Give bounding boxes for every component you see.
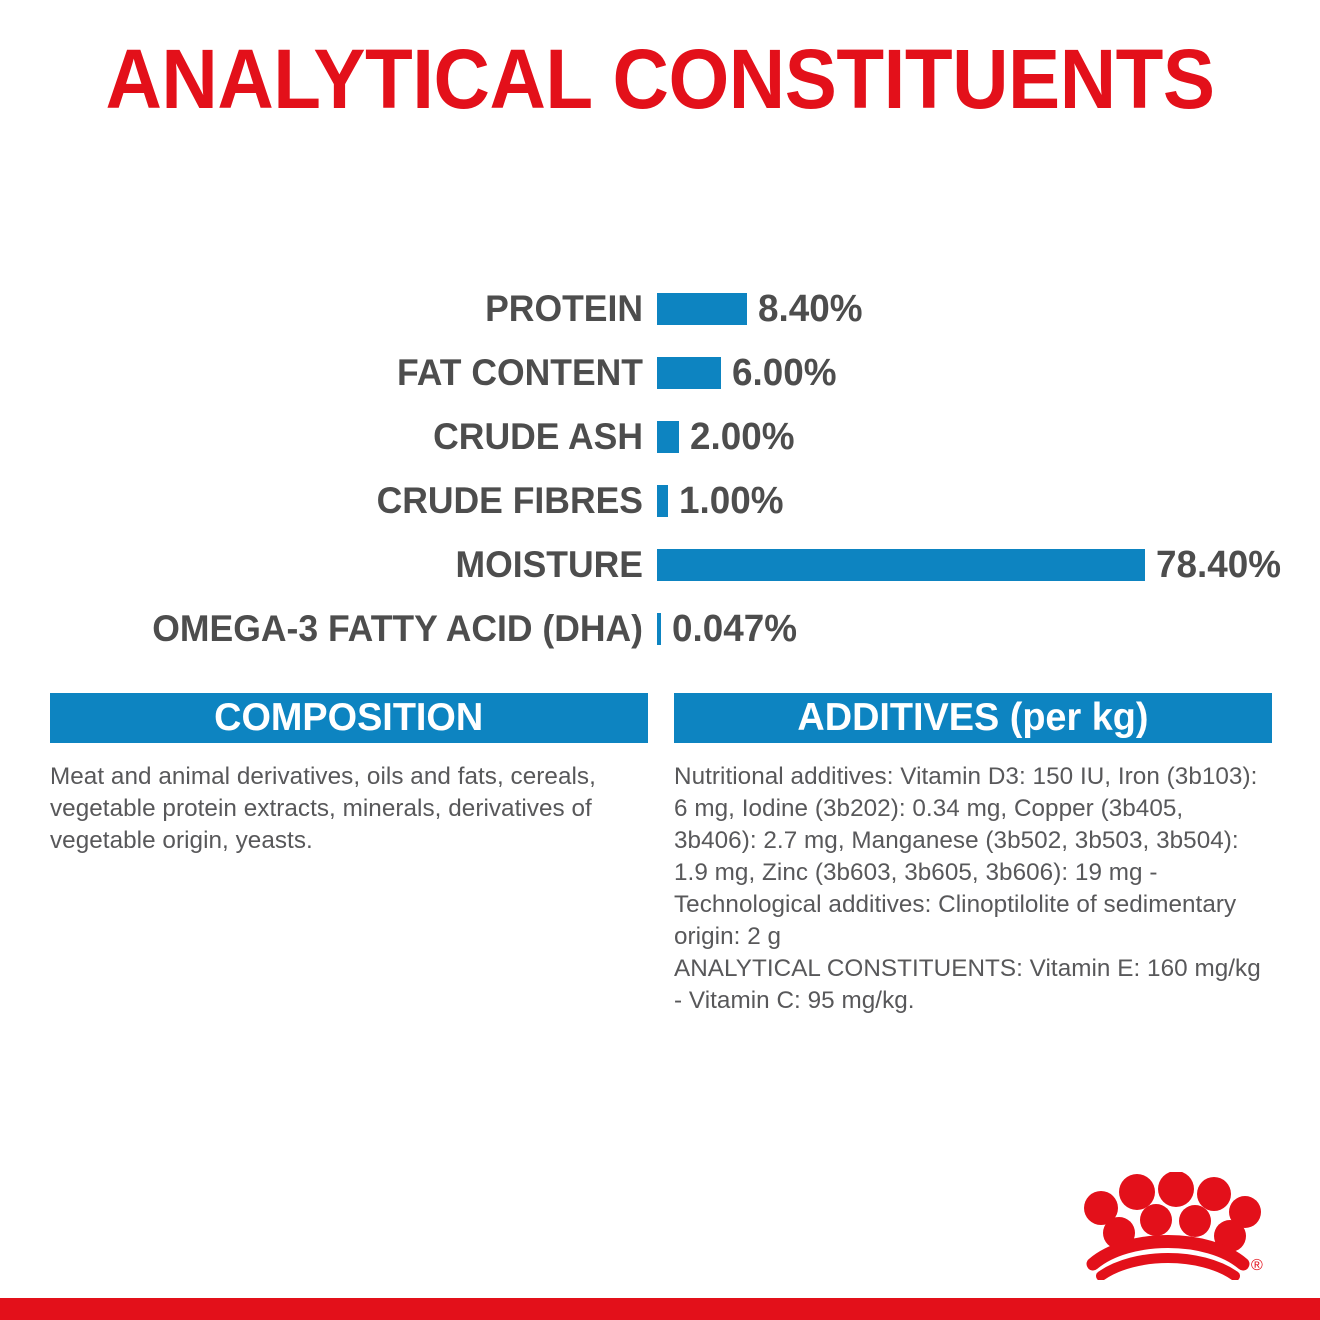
constituent-value: 8.40% [758,289,863,329]
registered-trademark-mark: ® [1251,1257,1263,1274]
constituent-bar [657,421,679,453]
constituent-value: 6.00% [732,353,837,393]
constituent-bar [657,293,747,325]
composition-body-text: Meat and animal derivatives, oils and fa… [50,761,642,857]
constituent-bar-wrap: 2.00% [657,405,798,469]
royal-canin-crown-logo: ® [1073,1172,1263,1280]
constituent-value: 1.00% [679,481,784,521]
additives-header: ADDITIVES (per kg) [674,693,1272,743]
constituent-value: 0.047% [672,609,797,649]
constituent-label: MOISTURE [26,545,643,585]
constituent-bar-wrap: 8.40% [657,277,866,341]
constituent-label: OMEGA-3 FATTY ACID (DHA) [26,609,643,649]
constituent-bar-wrap: 0.047% [657,597,801,661]
constituent-row: CRUDE FIBRES1.00% [0,469,1320,533]
constituent-value: 2.00% [690,417,795,457]
constituent-row: PROTEIN8.40% [0,277,1320,341]
constituent-bar-wrap: 78.40% [657,533,1285,597]
constituent-bar [657,357,721,389]
composition-header: COMPOSITION [50,693,648,743]
constituent-label: PROTEIN [26,289,643,329]
additives-panel: ADDITIVES (per kg) Nutritional additives… [674,693,1272,1017]
constituent-value: 78.40% [1156,545,1281,585]
constituent-row: FAT CONTENT6.00% [0,341,1320,405]
constituent-label: CRUDE FIBRES [26,481,643,521]
constituent-row: CRUDE ASH2.00% [0,405,1320,469]
info-panels: COMPOSITION Meat and animal derivatives,… [50,693,1272,1017]
constituent-label: FAT CONTENT [26,353,643,393]
constituent-bar [657,549,1145,581]
analytical-constituents-page: ANALYTICAL CONSTITUENTS PROTEIN8.40%FAT … [0,0,1320,1320]
constituent-bar [657,485,668,517]
bottom-red-stripe [0,1298,1320,1320]
page-title: ANALYTICAL CONSTITUENTS [46,34,1274,124]
constituents-bar-chart: PROTEIN8.40%FAT CONTENT6.00%CRUDE ASH2.0… [0,277,1320,661]
constituent-row: OMEGA-3 FATTY ACID (DHA)0.047% [0,597,1320,661]
constituent-bar-wrap: 1.00% [657,469,787,533]
composition-heading-text: COMPOSITION [214,697,483,739]
additives-heading-text: ADDITIVES (per kg) [797,697,1148,739]
constituent-bar-wrap: 6.00% [657,341,840,405]
constituent-label: CRUDE ASH [26,417,643,457]
constituent-row: MOISTURE78.40% [0,533,1320,597]
composition-panel: COMPOSITION Meat and animal derivatives,… [50,693,648,1017]
constituent-bar [657,613,661,645]
crown-arcs-icon [1093,1242,1243,1277]
additives-body-text: Nutritional additives: Vitamin D3: 150 I… [674,761,1266,1017]
